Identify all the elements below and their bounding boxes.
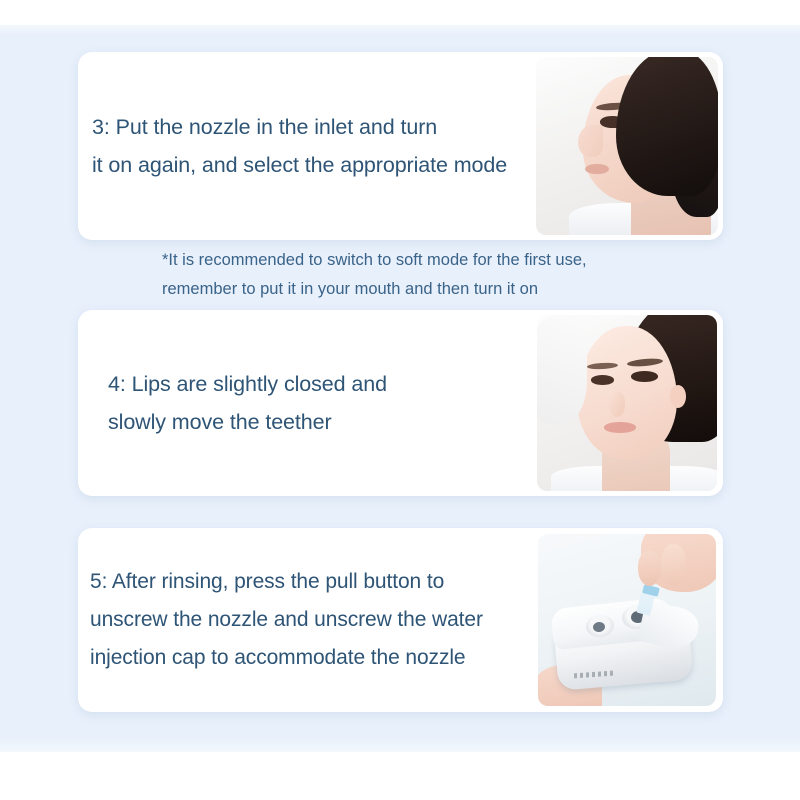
lips-shape <box>604 422 636 433</box>
step-5-line-2: unscrew the nozzle and unscrew the water <box>90 601 538 639</box>
step-card-5: 5: After rinsing, press the pull button … <box>78 528 723 712</box>
step-5-line-3: injection cap to accommodate the nozzle <box>90 639 538 677</box>
hair-shape <box>616 57 718 196</box>
step-card-4-text: 4: Lips are slightly closed and slowly m… <box>78 310 538 496</box>
left-eye-shape <box>591 375 614 385</box>
finger-shape-1 <box>638 551 661 585</box>
step-4-photo <box>537 315 717 491</box>
instruction-page: 3: Put the nozzle in the inlet and turn … <box>0 0 800 800</box>
step-card-3: 3: Put the nozzle in the inlet and turn … <box>78 52 723 240</box>
step-card-4: 4: Lips are slightly closed and slowly m… <box>78 310 723 496</box>
step-5-photo <box>538 534 716 706</box>
note-line-2: remember to put it in your mouth and the… <box>162 275 682 304</box>
step-card-5-text: 5: After rinsing, press the pull button … <box>78 528 538 712</box>
step-4-line-1: 4: Lips are slightly closed and <box>108 365 538 403</box>
step-3-line-1: 3: Put the nozzle in the inlet and turn <box>92 108 538 146</box>
nose-shape <box>578 125 603 157</box>
step-3-photo <box>536 57 718 235</box>
step-4-line-2: slowly move the teether <box>108 403 538 441</box>
step-3-line-2: it on again, and select the appropriate … <box>92 146 538 184</box>
note-line-1: *It is recommended to switch to soft mod… <box>162 246 682 275</box>
step-card-3-text: 3: Put the nozzle in the inlet and turn … <box>78 52 538 240</box>
right-eye-shape <box>631 371 658 382</box>
step-5-line-1: 5: After rinsing, press the pull button … <box>90 563 538 601</box>
finger-shape-2 <box>661 544 686 585</box>
background-highlight-shape <box>537 315 587 424</box>
recommendation-note: *It is recommended to switch to soft mod… <box>162 246 682 304</box>
